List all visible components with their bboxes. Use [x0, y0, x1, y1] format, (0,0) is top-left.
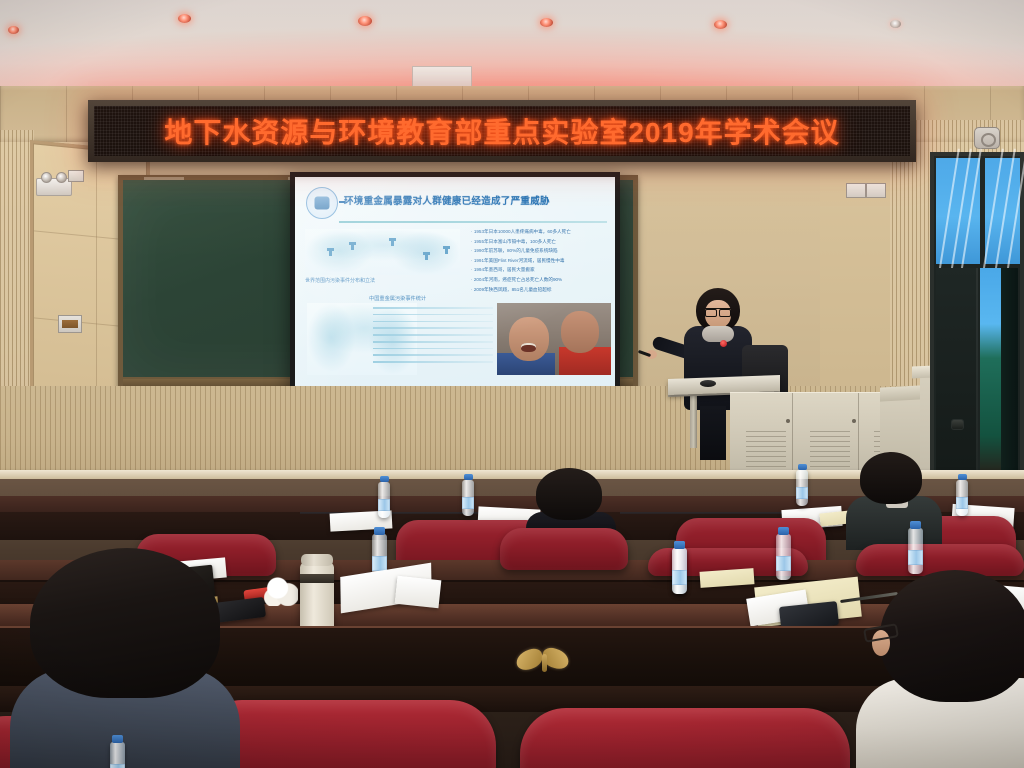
lecture-hall-photo: 环境重金属暴露对人群健康已经造成了严重威胁 世界范围内污染事件分布和立法 195…: [0, 0, 1024, 768]
child-photo: [497, 303, 611, 375]
tissue: [264, 576, 298, 606]
door-transom-window: [936, 158, 1020, 264]
world-map-caption: 世界范围内污染事件分布和立法: [305, 277, 465, 284]
butterfly-ornament-icon: [516, 648, 574, 674]
projection-screen-surface: 环境重金属暴露对人群健康已经造成了严重威胁 世界范围内污染事件分布和立法 195…: [295, 177, 615, 399]
list-item: 1990年前苏联，80%的儿童免疫系统缺陷: [471, 246, 615, 256]
presenter-collar: [702, 326, 734, 342]
list-item: 1953年日本10000人患疼痛病中毒，60多人死亡: [471, 227, 615, 237]
slide-divider: [339, 221, 607, 223]
door-lock-icon[interactable]: [952, 420, 963, 429]
wall-control-panel[interactable]: [58, 315, 82, 333]
led-banner-text: 地下水资源与环境教育部重点实验室2019年学术会议: [164, 111, 839, 151]
paper-sheet: [395, 576, 442, 608]
water-bottle: [462, 480, 474, 516]
downlight-icon: [540, 18, 553, 27]
presenter-legs: [700, 406, 726, 460]
projection-screen: 环境重金属暴露对人群健康已经造成了严重威胁 世界范围内污染事件分布和立法 195…: [290, 172, 620, 404]
list-item: 2004年河南，癌症死亡占总死亡人数的90%: [471, 275, 615, 285]
wall-plate[interactable]: [68, 170, 84, 182]
attendee-center: [526, 468, 616, 534]
attendee-suit: [846, 452, 942, 548]
door-leaf[interactable]: [936, 268, 978, 483]
wall-speaker-icon: [974, 127, 1000, 149]
slide-bullet-list: 1953年日本10000人患疼痛病中毒，60多人死亡 1955年日本富山市镉中毒…: [471, 227, 615, 294]
side-door[interactable]: [930, 152, 1024, 487]
water-bottle: [908, 528, 923, 574]
list-item: 1994年墨西哥，居民大量搬家: [471, 265, 615, 275]
slide-title: 环境重金属暴露对人群健康已经造成了严重威胁: [344, 193, 609, 207]
glasses-icon: [705, 308, 731, 315]
lapel-pin-icon: [720, 340, 727, 347]
water-bottle: [776, 534, 791, 580]
ceiling: [0, 0, 1024, 88]
chalk-rail: [144, 177, 184, 180]
water-bottle: [956, 480, 968, 516]
microphone-icon: [700, 380, 716, 387]
water-bottle: [672, 548, 687, 594]
china-data-table: [373, 307, 493, 371]
wall-plate[interactable]: [866, 183, 886, 198]
led-banner: 地下水资源与环境教育部重点实验室2019年学术会议: [88, 100, 916, 162]
china-map-caption: 中国重金属污染事件统计: [369, 295, 509, 302]
water-bottle: [110, 742, 125, 768]
emergency-light-icon: [36, 178, 72, 196]
university-emblem-icon: [306, 187, 338, 219]
led-banner-display: 地下水资源与环境教育部重点实验室2019年学术会议: [94, 106, 910, 156]
wall-plate[interactable]: [846, 183, 866, 198]
chair[interactable]: [520, 708, 850, 768]
downlight-icon: [178, 14, 191, 23]
doorway-opening: [980, 268, 1018, 483]
chair[interactable]: [500, 528, 628, 570]
world-map-image: [305, 229, 460, 275]
presentation-slide: 环境重金属暴露对人群健康已经造成了严重威胁 世界范围内污染事件分布和立法 195…: [295, 177, 615, 399]
foreground-woman-left: [10, 548, 240, 768]
water-bottle: [796, 470, 808, 506]
downlight-icon: [890, 20, 901, 28]
chair[interactable]: [196, 700, 496, 768]
downlight-icon: [8, 26, 19, 34]
downlight-icon: [714, 20, 727, 29]
downlight-icon: [358, 16, 372, 26]
foreground-woman-right: [856, 570, 1024, 768]
water-bottle: [378, 482, 390, 518]
thermos: [300, 562, 334, 634]
list-item: 2009年陕西凤翔，851名儿童血铅超标: [471, 284, 615, 294]
lectern-leg: [690, 394, 697, 448]
